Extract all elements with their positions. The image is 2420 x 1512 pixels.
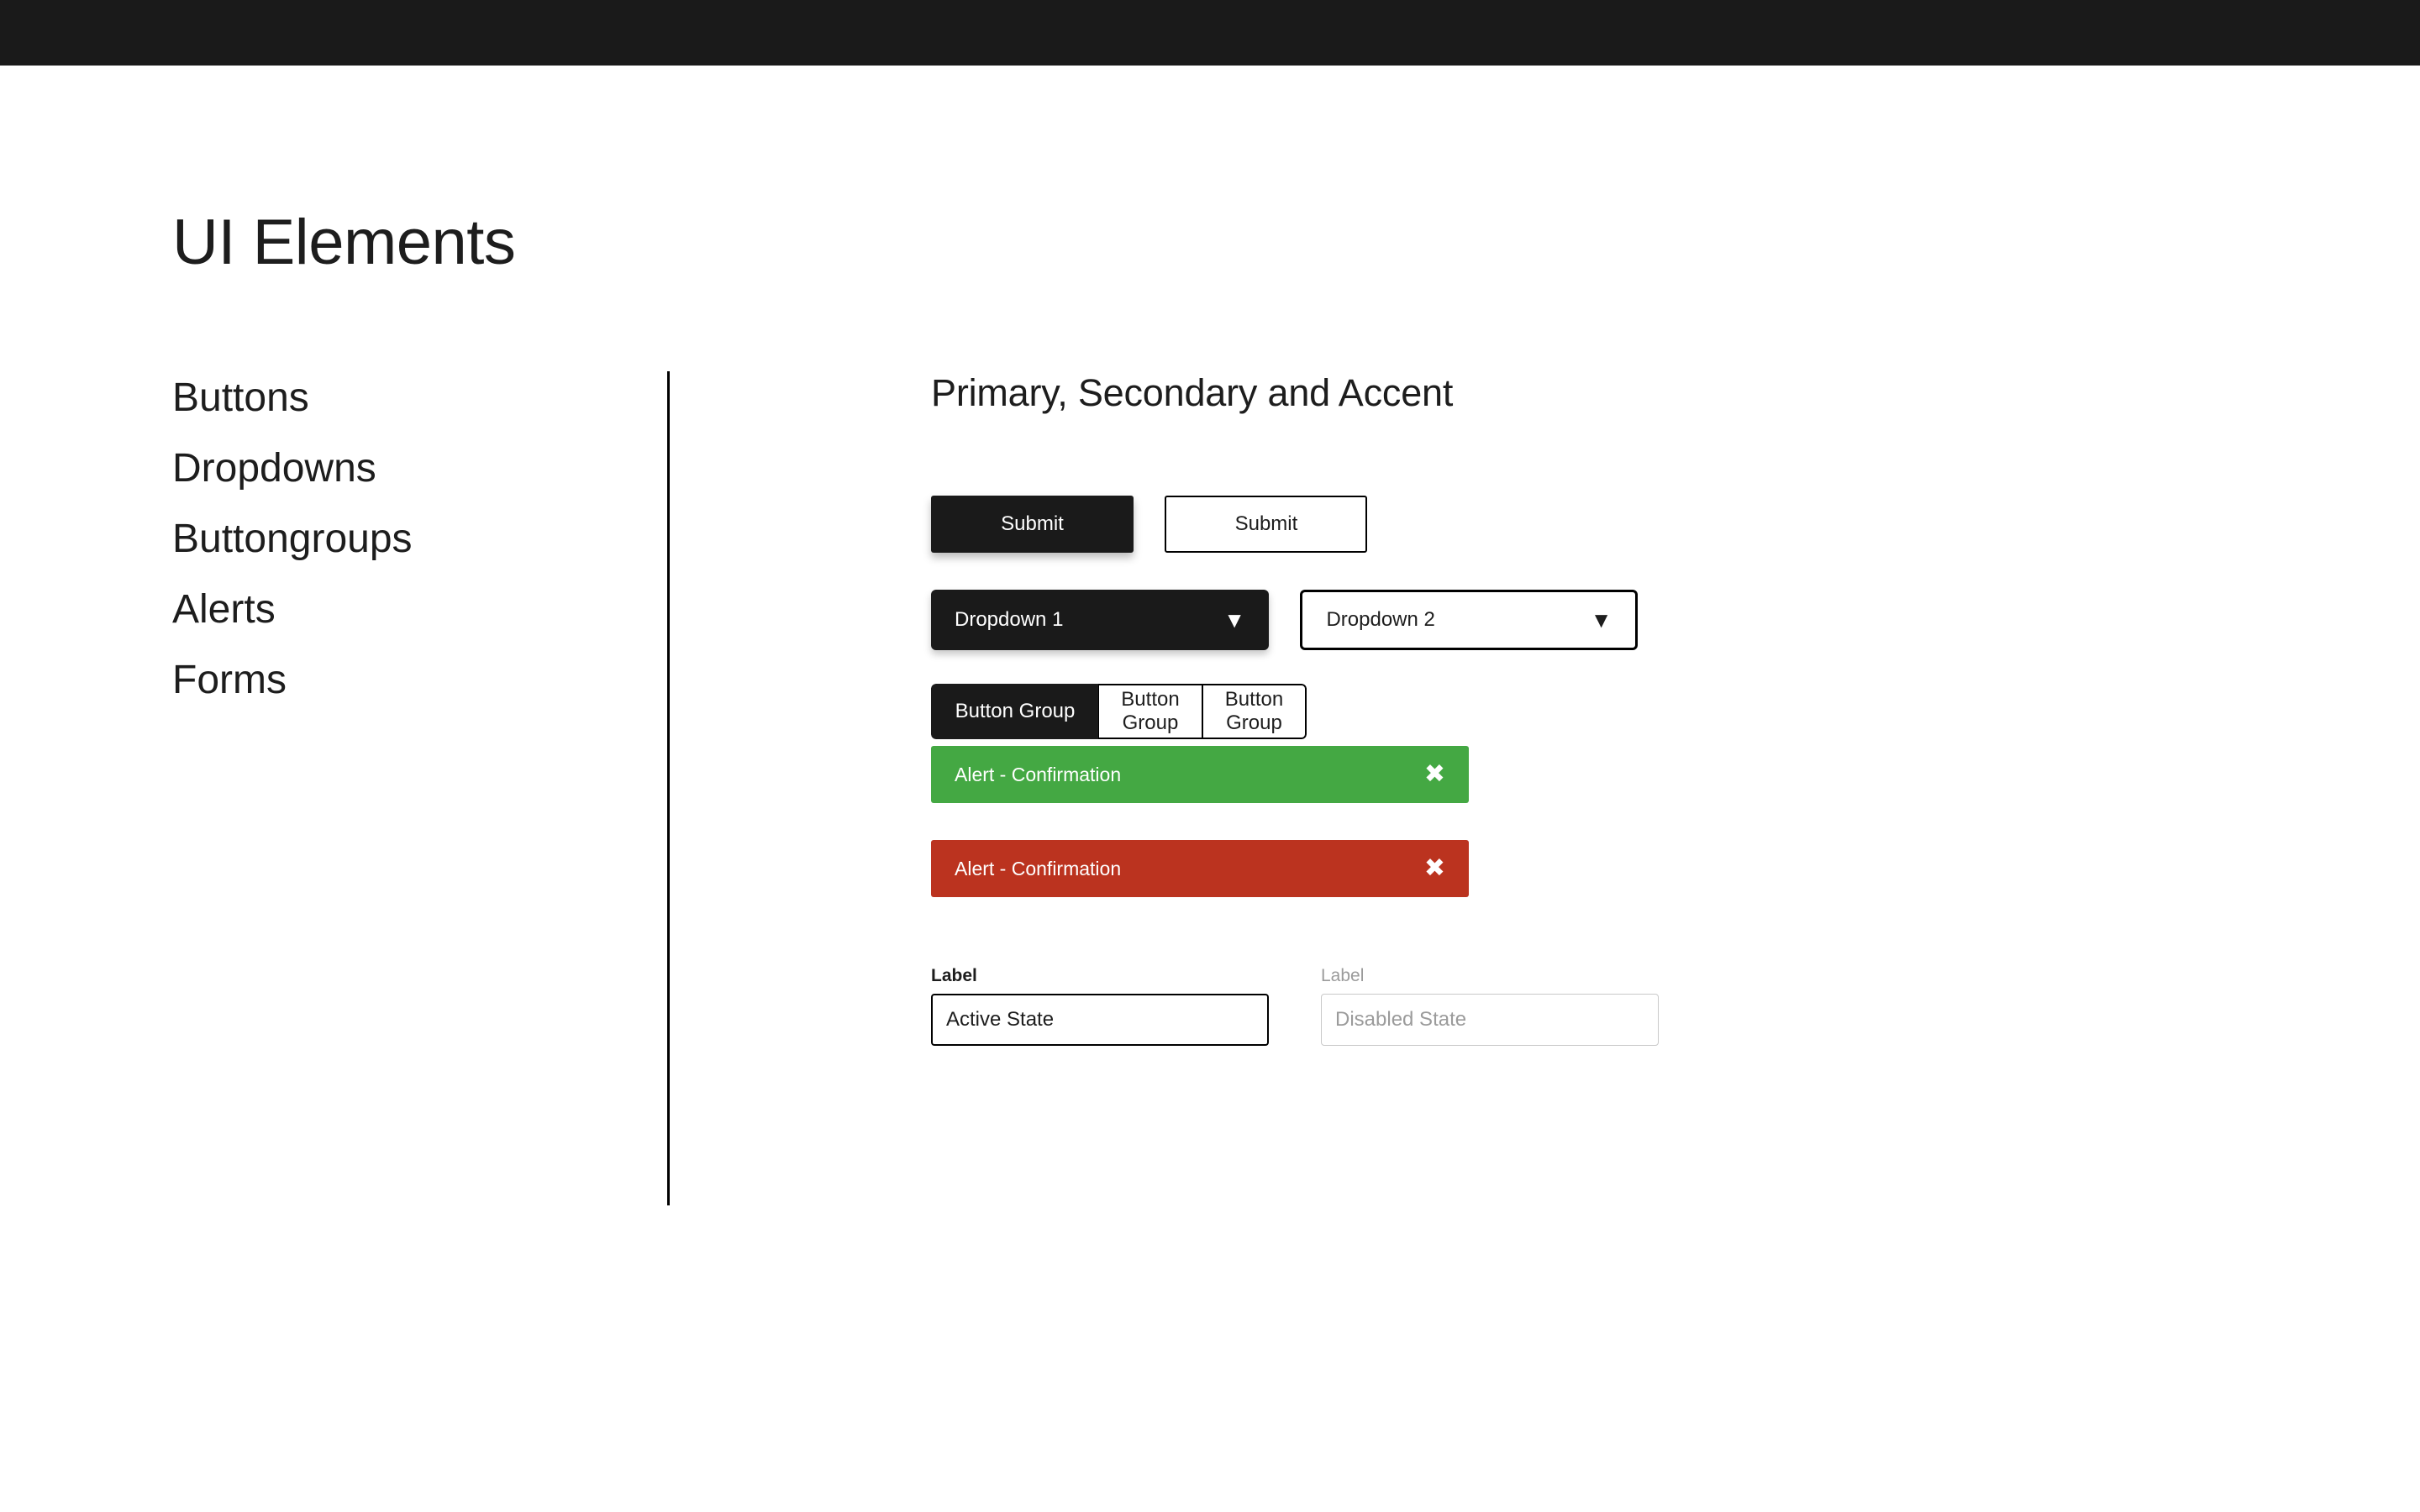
- button-group-item-3[interactable]: Button Group: [1202, 684, 1307, 739]
- chevron-down-icon: ▼: [1223, 609, 1245, 631]
- alert-danger: Alert - Confirmation ✖: [931, 840, 1469, 897]
- sidebar-item-dropdowns[interactable]: Dropdowns: [172, 433, 609, 504]
- main-content: Primary, Secondary and Accent Submit Sub…: [931, 371, 2107, 415]
- button-group-row: Button Group Button Group Button Group: [931, 684, 1307, 739]
- active-state-input[interactable]: [931, 994, 1269, 1046]
- field-disabled: Label: [1321, 966, 1659, 1046]
- button-group-item-2[interactable]: Button Group: [1098, 684, 1202, 739]
- alert-danger-label: Alert - Confirmation: [955, 858, 1121, 880]
- field-disabled-label: Label: [1321, 966, 1659, 986]
- submit-secondary-button[interactable]: Submit: [1165, 496, 1367, 553]
- dropdown-2[interactable]: Dropdown 2 ▼: [1300, 590, 1638, 650]
- page-root: UI Elements Buttons Dropdowns Buttongrou…: [0, 0, 2420, 1512]
- dropdown-2-label: Dropdown 2: [1326, 608, 1434, 632]
- sidebar-item-buttons[interactable]: Buttons: [172, 363, 609, 433]
- vertical-divider: [667, 371, 670, 1205]
- submit-primary-button[interactable]: Submit: [931, 496, 1134, 553]
- close-icon[interactable]: ✖: [1424, 762, 1445, 787]
- form-fields: Label Label: [931, 966, 1659, 1046]
- close-icon[interactable]: ✖: [1424, 856, 1445, 881]
- page-title: UI Elements: [172, 206, 515, 279]
- forms-row: Label Label: [931, 966, 1659, 1046]
- dropdowns-row: Dropdown 1 ▼ Dropdown 2 ▼: [931, 590, 1638, 650]
- top-bar: [0, 0, 2420, 66]
- sidebar-item-alerts[interactable]: Alerts: [172, 575, 609, 645]
- alert-success: Alert - Confirmation ✖: [931, 746, 1469, 803]
- alert-success-row: Alert - Confirmation ✖: [931, 746, 1469, 803]
- chevron-down-icon: ▼: [1591, 609, 1612, 631]
- sidebar-item-buttongroups[interactable]: Buttongroups: [172, 504, 609, 575]
- section-title: Primary, Secondary and Accent: [931, 371, 2107, 415]
- dropdown-1[interactable]: Dropdown 1 ▼: [931, 590, 1269, 650]
- field-active: Label: [931, 966, 1269, 1046]
- sidebar-nav: Buttons Dropdowns Buttongroups Alerts Fo…: [172, 363, 609, 716]
- buttons-row: Submit Submit: [931, 496, 1367, 553]
- dropdown-1-label: Dropdown 1: [955, 608, 1063, 632]
- alert-danger-row: Alert - Confirmation ✖: [931, 840, 1469, 897]
- button-group-item-1[interactable]: Button Group: [931, 684, 1098, 739]
- disabled-state-input: [1321, 994, 1659, 1046]
- field-active-label: Label: [931, 966, 1269, 986]
- sidebar-item-forms[interactable]: Forms: [172, 645, 609, 716]
- alert-success-label: Alert - Confirmation: [955, 764, 1121, 786]
- button-group: Button Group Button Group Button Group: [931, 684, 1307, 739]
